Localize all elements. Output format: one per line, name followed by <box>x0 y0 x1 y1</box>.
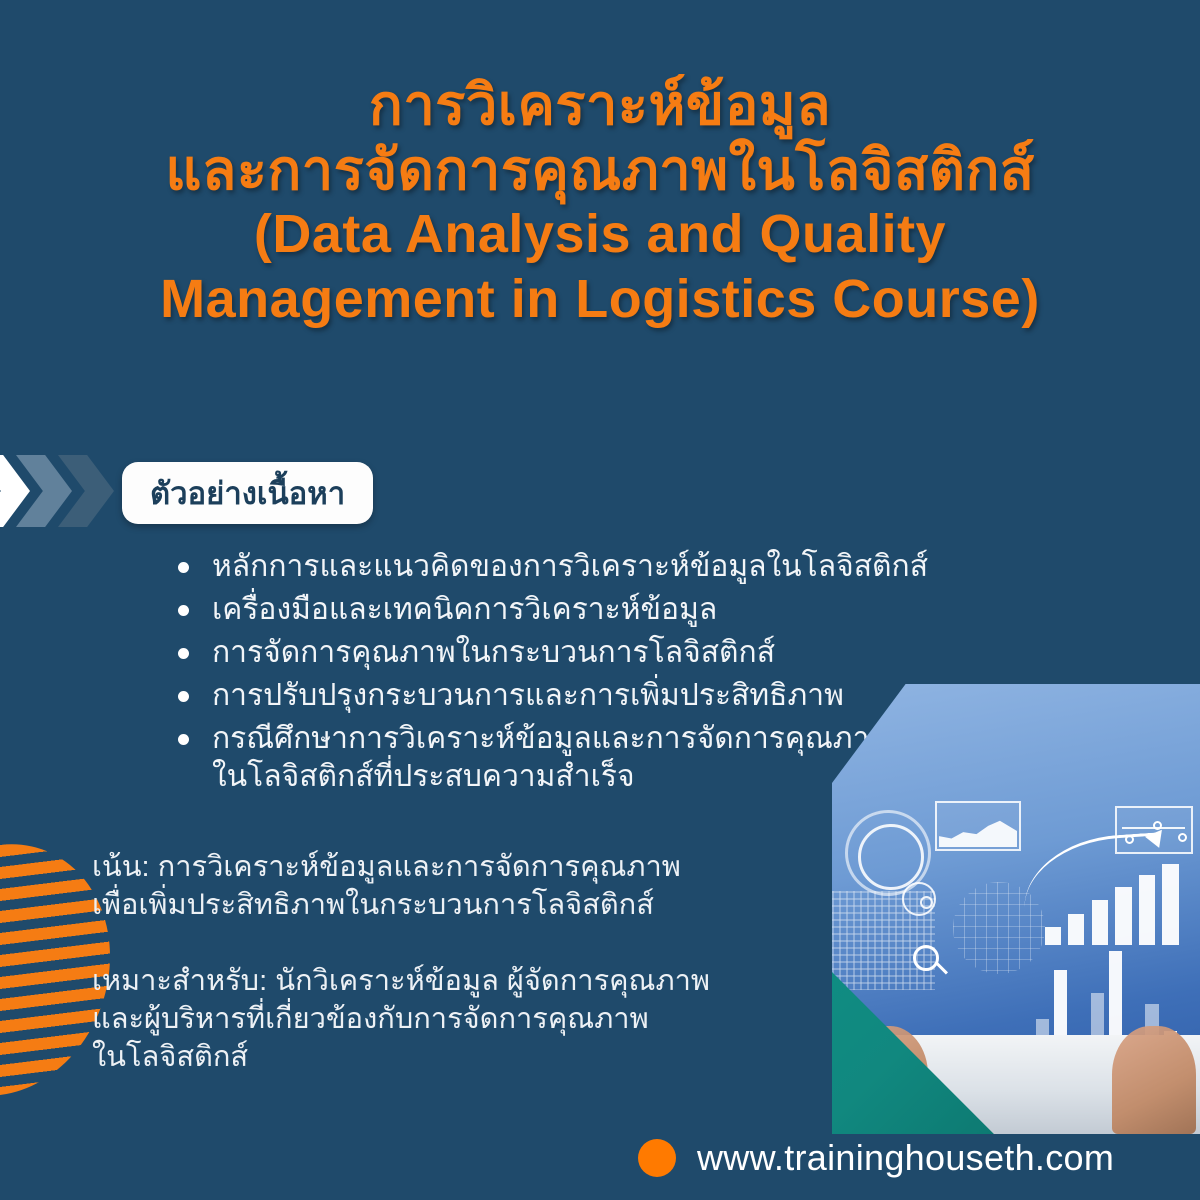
photo-inner <box>832 684 1200 1134</box>
data-analytics-photo <box>832 684 1200 1134</box>
target-audience-paragraph: เหมาะสำหรับ: นักวิเคราะห์ข้อมูล ผู้จัดกา… <box>92 962 792 1076</box>
title-line-2: และการจัดการคุณภาพในโลจิสติกส์ <box>40 137 1160 202</box>
title-line-1: การวิเคราะห์ข้อมูล <box>40 72 1160 137</box>
list-item-label: หลักการและแนวคิดของการวิเคราะห์ข้อมูลในโ… <box>212 548 928 586</box>
list-item: หลักการและแนวคิดของการวิเคราะห์ข้อมูลในโ… <box>178 548 998 586</box>
scatter-node <box>1178 833 1187 842</box>
list-item: เครื่องมือและเทคนิคการวิเคราะห์ข้อมูล <box>178 591 998 629</box>
small-bar-chart <box>1042 864 1189 945</box>
area-chart-panel <box>935 801 1021 851</box>
inner-ring-icon <box>858 824 924 890</box>
poster-canvas: การวิเคราะห์ข้อมูล และการจัดการคุณภาพในโ… <box>0 0 1200 1200</box>
status-badge-label: ตัวอย่างเนื้อหา <box>150 478 345 509</box>
page-title: การวิเคราะห์ข้อมูล และการจัดการคุณภาพในโ… <box>0 72 1200 332</box>
bar <box>1139 875 1155 945</box>
bullet-dot-icon <box>178 605 189 616</box>
bar <box>1162 864 1178 945</box>
footer-circle-icon <box>638 1139 676 1177</box>
bullet-dot-icon <box>178 562 189 573</box>
bullet-dot-icon <box>178 648 189 659</box>
website-url[interactable]: www.traininghouseth.com <box>697 1138 1114 1178</box>
bullet-dot-icon <box>178 734 189 745</box>
chevron-group <box>0 455 124 527</box>
focus-paragraph: เน้น: การวิเคราะห์ข้อมูลและการจัดการคุณภ… <box>92 848 792 924</box>
list-item-label: กรณีศึกษาการวิเคราะห์ข้อมูลและการจัดการค… <box>212 720 889 796</box>
list-item: การจัดการคุณภาพในกระบวนการโลจิสติกส์ <box>178 634 998 672</box>
status-badge: ตัวอย่างเนื้อหา <box>122 462 373 524</box>
list-item: การปรับปรุงกระบวนการและการเพิ่มประสิทธิภ… <box>178 677 998 715</box>
tiny-ring-icon <box>920 896 933 909</box>
list-item-label: การปรับปรุงกระบวนการและการเพิ่มประสิทธิภ… <box>212 677 844 715</box>
area-chart-fill <box>939 818 1017 847</box>
list-item-label: เครื่องมือและเทคนิคการวิเคราะห์ข้อมูล <box>212 591 717 629</box>
bullet-dot-icon <box>178 691 189 702</box>
list-item-label: การจัดการคุณภาพในกระบวนการโลจิสติกส์ <box>212 634 775 672</box>
title-line-4: Management in Logistics Course) <box>40 267 1160 332</box>
magnifier-icon <box>913 945 939 971</box>
title-line-3: (Data Analysis and Quality <box>40 202 1160 267</box>
